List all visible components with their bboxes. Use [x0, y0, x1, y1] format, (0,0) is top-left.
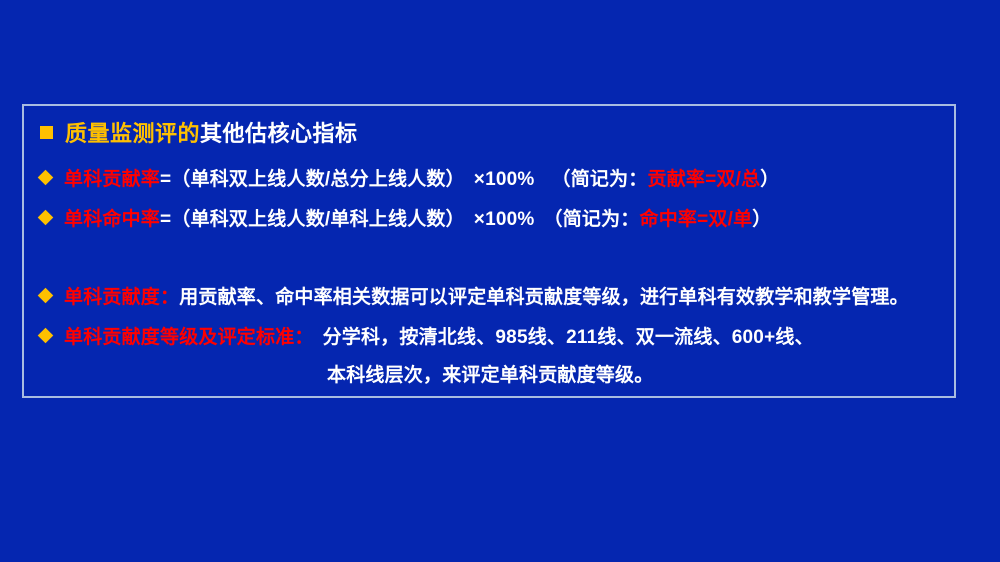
- diamond-bullet-icon: [38, 328, 54, 344]
- term-hit-rate: 单科命中率: [64, 204, 160, 231]
- bullet-line-contribution-degree: 单科贡献度： 用贡献率、命中率相关数据可以评定单科贡献度等级，进行单科有效教学和…: [40, 282, 909, 309]
- body-grade-standard-line2: 本科线层次，来评定单科贡献度等级。: [327, 360, 653, 387]
- diamond-bullet-icon: [38, 210, 54, 226]
- bullet-line-contribution-rate: 单科贡献率 =（单科双上线人数/总分上线人数） ×100% （简记为： 贡献率=…: [40, 164, 780, 191]
- title-part-white: 其他估核心指标: [200, 116, 358, 148]
- diamond-bullet-icon: [38, 170, 54, 186]
- bullet-line-grade-standard: 单科贡献度等级及评定标准： 分学科，按清北线、985线、211线、双一流线、60…: [40, 322, 814, 349]
- note-prefix-contribution-rate: （简记为：: [552, 164, 648, 191]
- bullet-line-grade-standard-cont: 本科线层次，来评定单科贡献度等级。: [327, 360, 653, 387]
- multiplier-hit-rate: ×100%: [474, 209, 535, 231]
- title-part-yellow: 质量监测评的: [65, 116, 200, 148]
- body-contribution-degree: 用贡献率、命中率相关数据可以评定单科贡献度等级，进行单科有效教学和教学管理。: [179, 282, 909, 309]
- term-contribution-rate: 单科贡献率: [64, 164, 160, 191]
- note-shorthand-contribution-rate: 贡献率=双/总: [648, 164, 761, 191]
- slide-title: 质量监测评的 其他估核心指标: [40, 116, 358, 148]
- content-box: 质量监测评的 其他估核心指标 单科贡献率 =（单科双上线人数/总分上线人数） ×…: [22, 104, 956, 398]
- bullet-line-hit-rate: 单科命中率 =（单科双上线人数/单科上线人数） ×100% （简记为： 命中率=…: [40, 204, 772, 231]
- formula-contribution-rate: =（单科双上线人数/总分上线人数）: [160, 164, 465, 191]
- diamond-bullet-icon: [38, 288, 54, 304]
- note-prefix-hit-rate: （简记为：: [544, 204, 640, 231]
- term-grade-standard: 单科贡献度等级及评定标准：: [64, 322, 314, 349]
- body-grade-standard: 分学科，按清北线、985线、211线、双一流线、600+线、: [323, 322, 814, 349]
- formula-hit-rate: =（单科双上线人数/单科上线人数）: [160, 204, 465, 231]
- slide: 质量监测评的 其他估核心指标 单科贡献率 =（单科双上线人数/总分上线人数） ×…: [0, 0, 1000, 562]
- note-suffix-hit-rate: ）: [752, 204, 771, 231]
- square-bullet-icon: [40, 126, 53, 139]
- multiplier-contribution-rate: ×100%: [474, 169, 535, 191]
- note-shorthand-hit-rate: 命中率=双/单: [640, 204, 753, 231]
- term-contribution-degree: 单科贡献度：: [64, 282, 179, 309]
- note-suffix-contribution-rate: ）: [760, 164, 779, 191]
